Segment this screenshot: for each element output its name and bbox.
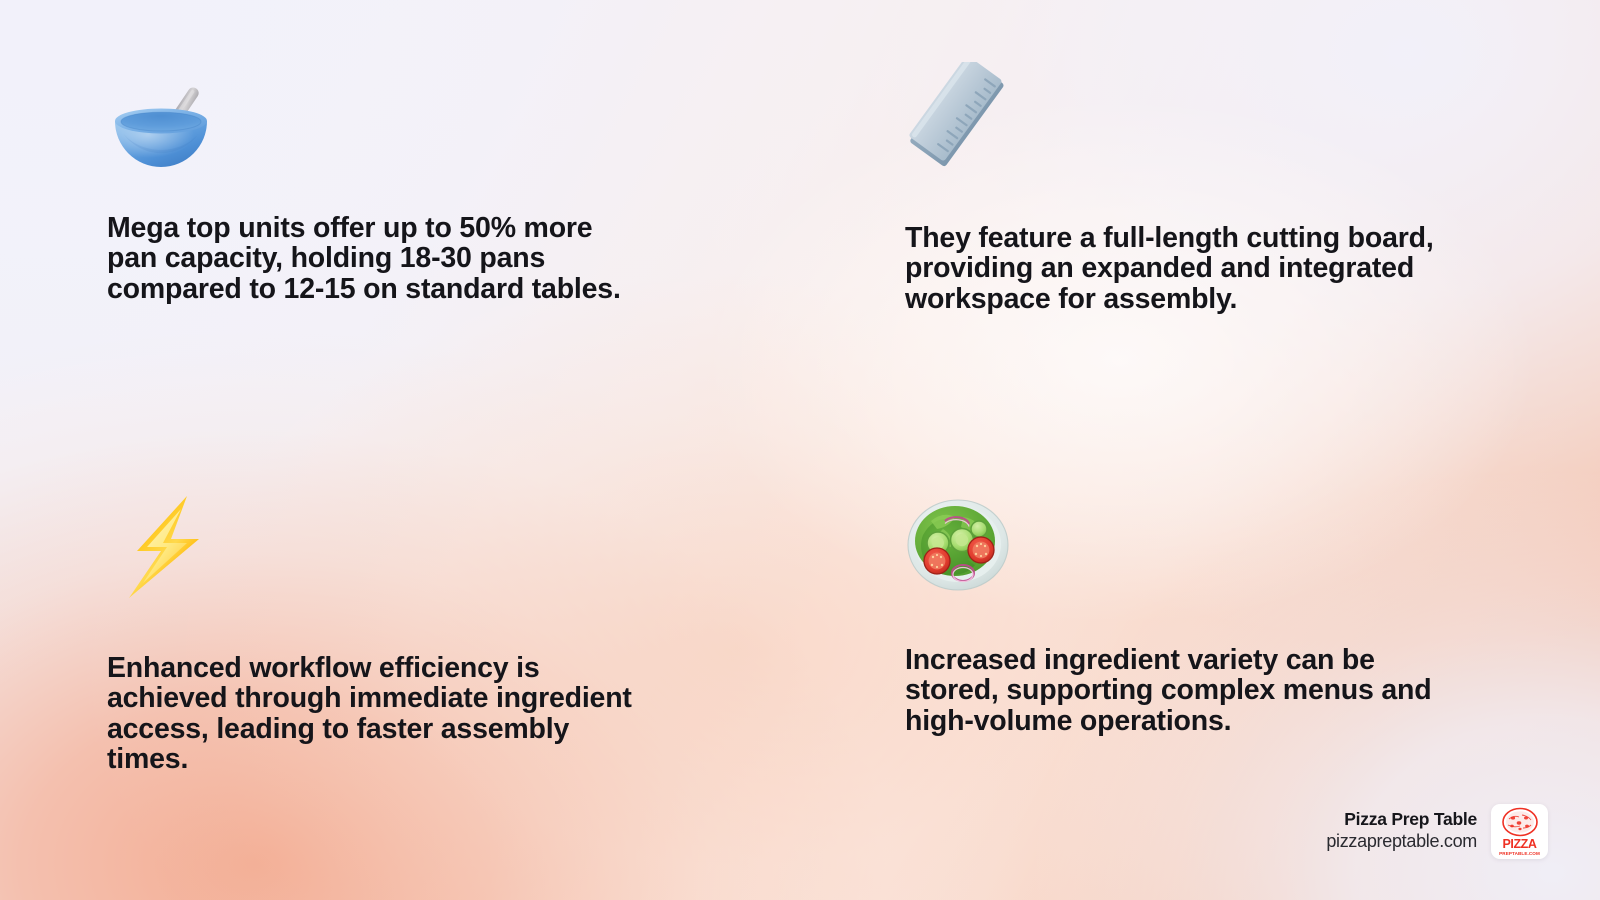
pizza-logo-icon <box>1500 807 1540 837</box>
brand-name: Pizza Prep Table <box>1326 810 1477 829</box>
brand-logo-tile[interactable]: PIZZA PREPTABLE.COM <box>1491 804 1548 859</box>
lightning-bolt-icon <box>107 493 707 605</box>
feature-text: Increased ingredient variety can be stor… <box>905 645 1490 736</box>
feature-cell-cutting-board: They feature a full-length cutting board… <box>905 62 1495 314</box>
brand-logo-word: PIZZA <box>1502 838 1536 851</box>
brand-footer: Pizza Prep Table pizzapreptable.com <box>1258 795 1548 867</box>
feature-cell-ingredient-variety: Increased ingredient variety can be stor… <box>905 495 1490 736</box>
feature-text: They feature a full-length cutting board… <box>905 223 1495 314</box>
feature-cell-pan-capacity: Mega top units offer up to 50% more pan … <box>107 78 667 304</box>
feature-text: Enhanced workflow efficiency is achieved… <box>107 653 707 775</box>
brand-url[interactable]: pizzapreptable.com <box>1326 832 1477 852</box>
brand-logo-sub: PREPTABLE.COM <box>1499 852 1540 857</box>
bowl-with-spoon-icon <box>107 78 667 180</box>
brand-text-block: Pizza Prep Table pizzapreptable.com <box>1326 810 1477 852</box>
infographic-canvas: Mega top units offer up to 50% more pan … <box>0 0 1600 900</box>
green-salad-icon <box>905 495 1490 595</box>
feature-text: Mega top units offer up to 50% more pan … <box>107 213 667 304</box>
ruler-icon <box>905 62 1495 181</box>
feature-cell-workflow-efficiency: Enhanced workflow efficiency is achieved… <box>107 493 707 775</box>
